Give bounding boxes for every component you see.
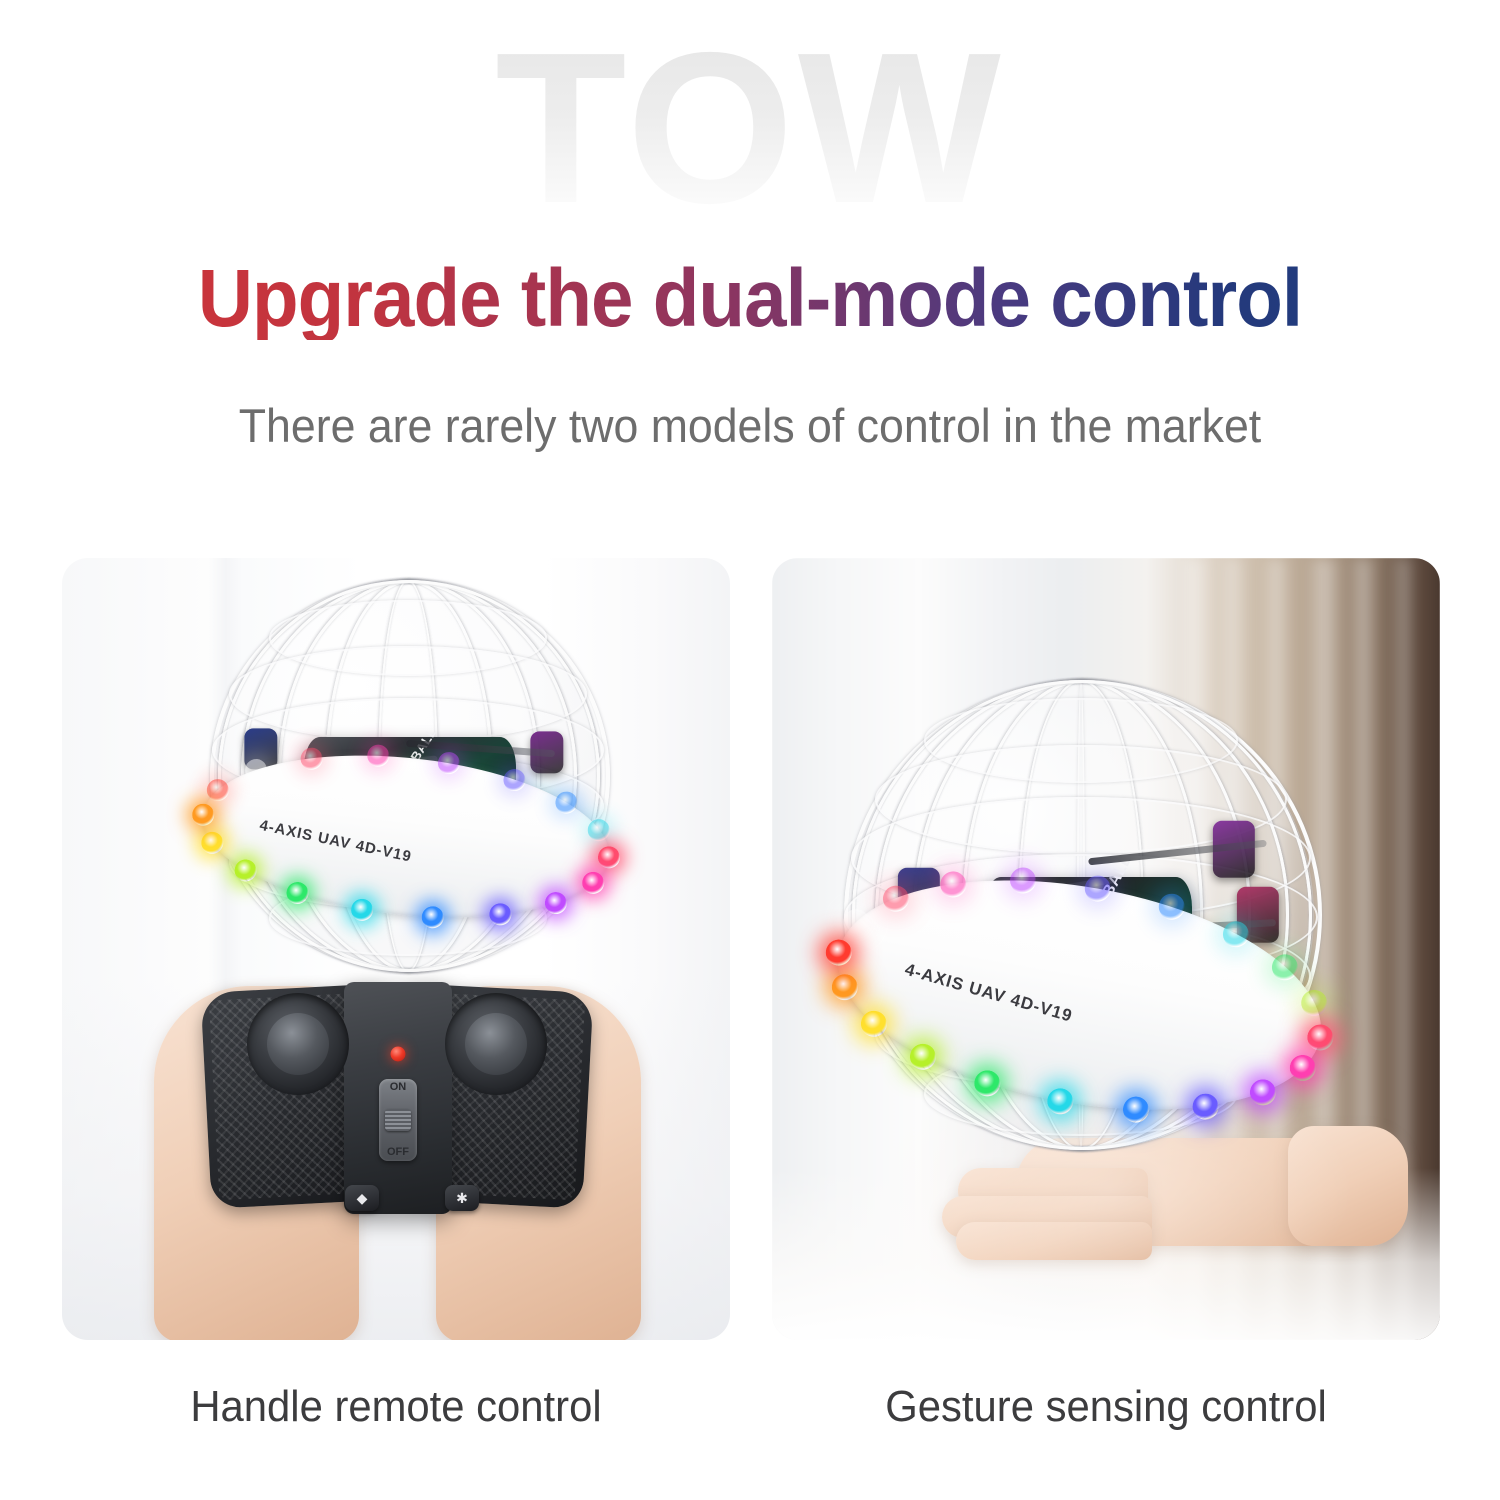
finger [956, 1222, 1152, 1260]
left-thumbstick-cap[interactable] [267, 1013, 329, 1075]
open-palm [896, 1120, 1376, 1330]
power-switch-on-label: ON [390, 1082, 407, 1093]
panel-handle-remote-control: MAGIC BALL 4-AXIS UAV 4D-V19 [62, 558, 730, 1340]
takeoff-icon[interactable]: ✱ [445, 1185, 479, 1211]
status-led-indicator [391, 1047, 406, 1062]
caption-gesture-sensing-control: Gesture sensing control [789, 1382, 1424, 1432]
speed-icon[interactable]: ◆ [345, 1185, 379, 1211]
page-subtitle: There are rarely two models of control i… [38, 398, 1463, 453]
caption-handle-remote-control: Handle remote control [79, 1382, 714, 1432]
panel-gesture-sensing-control: MAGIC BALL 4-AXIS UAV 4D-V19 [772, 558, 1440, 1340]
led-band-text: 4-AXIS UAV 4D-V19 [258, 817, 413, 866]
led-band-text: 4-AXIS UAV 4D-V19 [903, 960, 1075, 1027]
power-switch[interactable]: ON OFF [379, 1079, 417, 1161]
page-headline: Upgrade the dual-mode control [53, 258, 1448, 340]
watermark-text: TOW [0, 20, 1500, 235]
drone-ball-right: MAGIC BALL 4-AXIS UAV 4D-V19 [844, 680, 1314, 1150]
right-thumbstick-cap[interactable] [465, 1013, 527, 1075]
product-marketing-image: TOW Upgrade the dual-mode control There … [0, 0, 1500, 1500]
remote-controller: ON OFF ◆ ✱ [62, 558, 730, 1340]
power-switch-thumb[interactable] [385, 1109, 411, 1131]
power-switch-off-label: OFF [387, 1147, 409, 1158]
